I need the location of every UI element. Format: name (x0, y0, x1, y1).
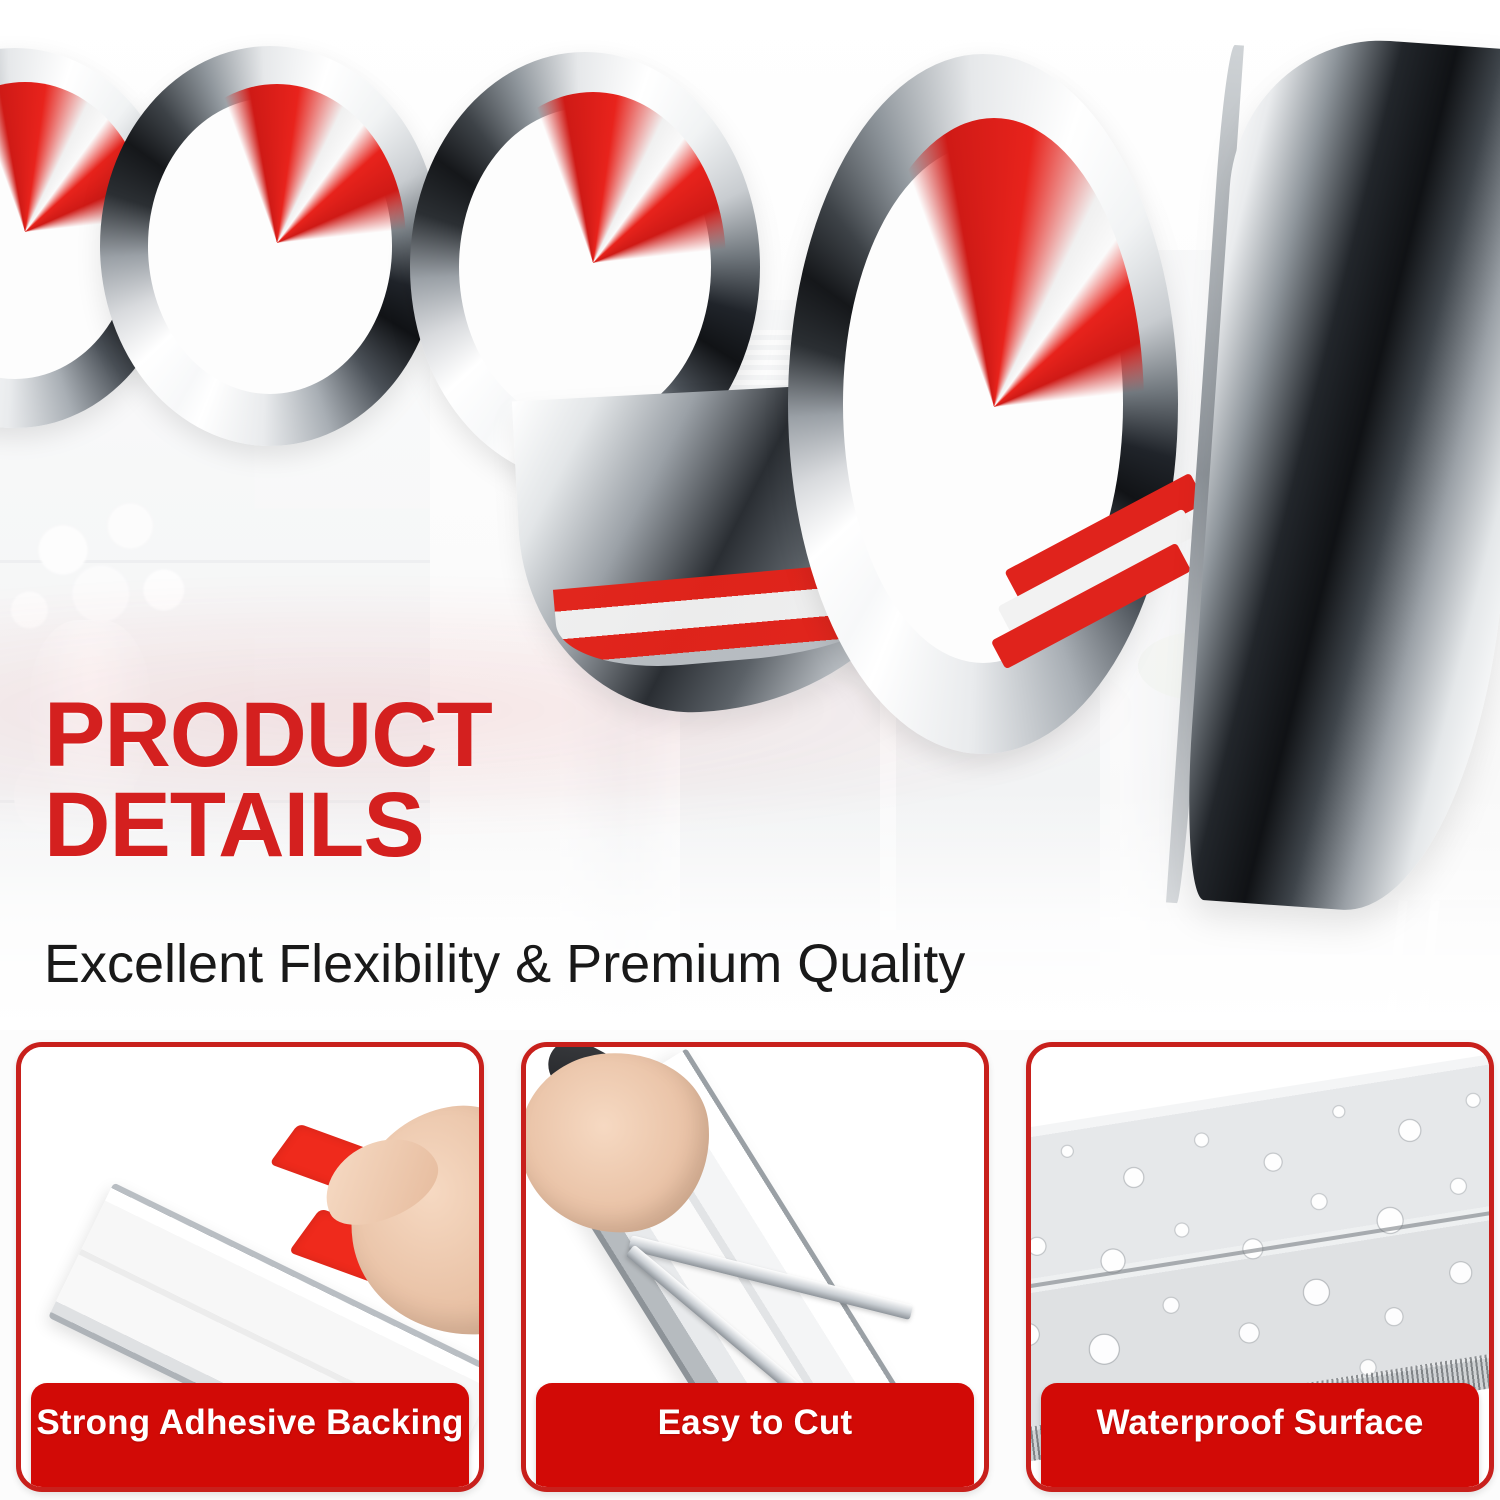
feature-panel-waterproof-surface[interactable]: Waterproof Surface (1026, 1042, 1494, 1492)
page-subtitle: Excellent Flexibility & Premium Quality (44, 936, 1244, 993)
title-line-1: PRODUCT (44, 684, 492, 786)
feature-caption-label: Waterproof Surface (1096, 1403, 1423, 1443)
feature-caption-bar: Easy to Cut (536, 1383, 974, 1492)
coil-adhesive-ring (460, 92, 726, 434)
feature-panel-easy-to-cut[interactable]: Easy to Cut (521, 1042, 989, 1492)
feature-panels: Strong Adhesive Backing Easy to Cut (0, 1032, 1500, 1500)
feature-caption-bar: Waterproof Surface (1041, 1383, 1479, 1492)
product-detail-image: .spiral .ring::after{left:14%;top:13%;wi… (0, 0, 1500, 1500)
coil-adhesive-ring (148, 84, 406, 402)
feature-caption-bar: Strong Adhesive Backing (31, 1383, 469, 1492)
title-line-2: DETAILS (44, 780, 864, 870)
feature-caption-label: Strong Adhesive Backing (36, 1403, 463, 1443)
page-title: PRODUCT DETAILS (44, 690, 864, 870)
feature-panel-strong-adhesive-backing[interactable]: Strong Adhesive Backing (16, 1042, 484, 1492)
feature-caption-label: Easy to Cut (658, 1403, 853, 1443)
